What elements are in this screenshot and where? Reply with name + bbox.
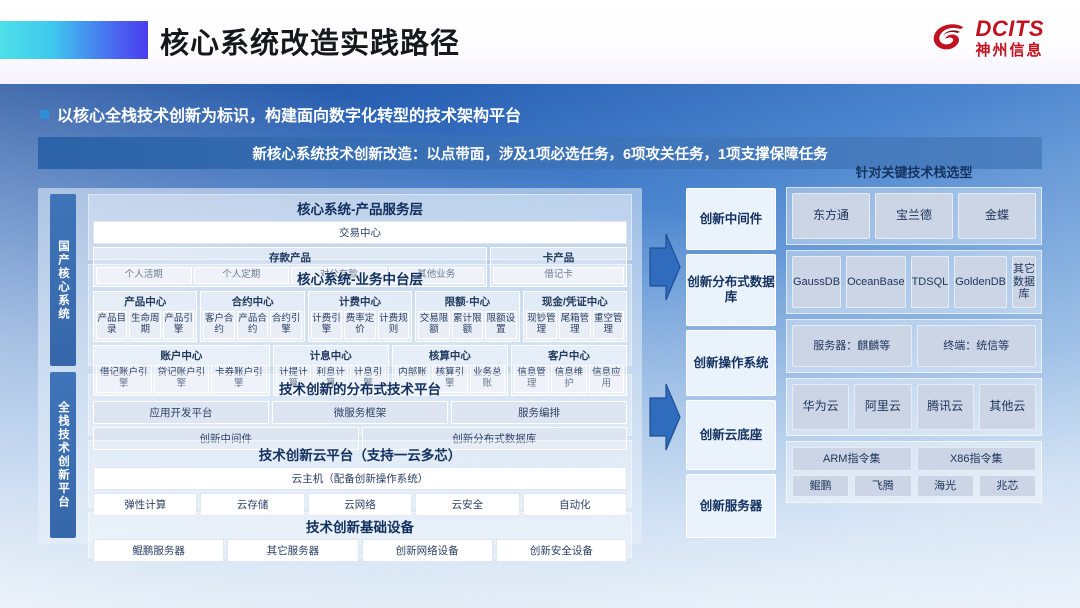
center-item: 合约引擎 <box>270 311 301 339</box>
infrastructure-layer: 技术创新基础设备 鲲鹏服务器 其它服务器 创新网络设备 创新安全设备 <box>88 512 632 558</box>
center-cash-voucher: 现金/凭证中心 现钞管理 尾箱管理 重空管理 <box>523 291 627 342</box>
center-item: 计费引擎 <box>311 311 342 339</box>
stack-row-isa: ARM指令集 X86指令集 <box>792 447 1036 471</box>
stack-band-chips: ARM指令集 X86指令集 鲲鹏 飞腾 海光 兆芯 <box>786 441 1042 503</box>
page-header: 核心系统改造实践路径 DCITS 神州信息 <box>0 0 1080 84</box>
dcits-logo: DCITS 神州信息 <box>929 18 1045 58</box>
stack-row-os: 服务器：麒麟等 终端：统信等 <box>792 325 1036 367</box>
product-layer-title: 核心系统-产品服务层 <box>89 195 631 221</box>
center-title: 产品中心 <box>96 294 194 311</box>
tech-platform-item: 服务编排 <box>451 401 627 424</box>
center-title: 合约中心 <box>203 294 301 311</box>
stack-item-chip[interactable]: 鲲鹏 <box>792 475 849 497</box>
stack-row-database: GaussDB OceanBase TDSQL GoldenDB 其它数据库 <box>792 256 1036 308</box>
center-title: 限额·中心 <box>418 294 516 311</box>
stack-item-database[interactable]: GoldenDB <box>954 256 1007 308</box>
stack-item-chip[interactable]: 兆芯 <box>979 475 1036 497</box>
stack-row-chips: 鲲鹏 飞腾 海光 兆芯 <box>792 475 1036 497</box>
task-server[interactable]: 创新服务器 <box>686 474 776 538</box>
trade-center-strip: 交易中心 <box>93 221 627 244</box>
stack-band-middleware: 东方通 宝兰德 金蝶 <box>786 187 1042 245</box>
arrow-right-icon-bottom <box>648 380 682 454</box>
stack-item-chip[interactable]: 海光 <box>917 475 974 497</box>
task-operating-system[interactable]: 创新操作系统 <box>686 330 776 396</box>
tech-platform-item: 应用开发平台 <box>93 401 269 424</box>
stack-band-cloud: 华为云 阿里云 腾讯云 其他云 <box>786 378 1042 436</box>
distributed-tech-platform: 技术创新的分布式技术平台 应用开发平台 微服务框架 服务编排 创新中间件 创新分… <box>88 374 632 436</box>
center-item: 费率定价 <box>344 311 375 339</box>
left-architecture-panel: 国产核心系统 全栈技术创新平台 核心系统-产品服务层 交易中心 存款产品 个人活… <box>38 188 642 544</box>
stack-item-isa[interactable]: ARM指令集 <box>792 447 912 471</box>
center-item: 交易限额 <box>418 311 449 339</box>
dcits-swirl-icon <box>929 18 969 58</box>
center-limit: 限额·中心 交易限额 累计限额 限额设置 <box>415 291 519 342</box>
infra-items-row: 鲲鹏服务器 其它服务器 创新网络设备 创新安全设备 <box>89 539 631 565</box>
center-item: 重空管理 <box>593 311 624 339</box>
stack-item-middleware[interactable]: 金蝶 <box>958 193 1036 239</box>
slide-content: 以核心全栈技术创新为标识，构建面向数字化转型的技术架构平台 新核心系统技术创新改… <box>0 84 1080 608</box>
center-cells: 交易限额 累计限额 限额设置 <box>418 311 516 339</box>
center-item: 尾箱管理 <box>559 311 590 339</box>
tech-stack-title: 针对关键技术栈选型 <box>786 162 1042 181</box>
stack-item-database[interactable]: TDSQL <box>911 256 950 308</box>
center-cells: 计费引擎 费率定价 计费规则 <box>311 311 409 339</box>
task-cloud-foundation[interactable]: 创新云底座 <box>686 400 776 470</box>
task-distributed-database[interactable]: 创新分布式数据库 <box>686 254 776 326</box>
center-contract: 合约中心 客户合约 产品合约 合约引擎 <box>200 291 304 342</box>
stack-item-cloud[interactable]: 华为云 <box>792 384 849 430</box>
header-accent-bar <box>0 21 148 59</box>
bullet-square-icon <box>40 110 49 119</box>
stack-row-middleware: 东方通 宝兰德 金蝶 <box>792 193 1036 239</box>
infra-item: 创新安全设备 <box>496 539 627 562</box>
side-tab-tech-platform: 全栈技术创新平台 <box>50 372 76 538</box>
center-item: 累计限额 <box>452 311 483 339</box>
cloud-platform-title: 技术创新云平台（支持一云多芯） <box>89 441 631 467</box>
logo-text-cn: 神州信息 <box>976 43 1044 58</box>
cloud-platform: 技术创新云平台（支持一云多芯） 云主机（配备创新操作系统） 弹性计算 云存储 云… <box>88 440 632 508</box>
center-item: 产品合约 <box>237 311 268 339</box>
cloud-host-strip: 云主机（配备创新操作系统） <box>93 467 627 490</box>
center-item: 产品引擎 <box>163 311 194 339</box>
stack-item-cloud[interactable]: 腾讯云 <box>917 384 974 430</box>
business-layer-title: 核心系统-业务中台层 <box>89 265 631 291</box>
center-item: 客户合约 <box>203 311 234 339</box>
center-item: 产品目录 <box>96 311 127 339</box>
infra-item: 创新网络设备 <box>362 539 493 562</box>
center-title: 核算中心 <box>395 348 505 365</box>
stack-item-middleware[interactable]: 宝兰德 <box>875 193 953 239</box>
center-cells: 现钞管理 尾箱管理 重空管理 <box>526 311 624 339</box>
tech-platform-row-1: 应用开发平台 微服务框架 服务编排 <box>89 401 631 427</box>
business-center-row-1: 产品中心 产品目录 生命周期 产品引擎 合约中心 客户合约 产品合约 合约引擎 <box>89 291 631 345</box>
center-title: 计息中心 <box>276 348 386 365</box>
logo-text-en: DCITS <box>976 18 1045 40</box>
stack-item-database[interactable]: 其它数据库 <box>1012 256 1036 308</box>
stack-item-cloud[interactable]: 其他云 <box>979 384 1036 430</box>
center-product: 产品中心 产品目录 生命周期 产品引擎 <box>93 291 197 342</box>
center-item: 生命周期 <box>129 311 160 339</box>
stack-band-os: 服务器：麒麟等 终端：统信等 <box>786 319 1042 373</box>
section-heading: 以核心全栈技术创新为标识，构建面向数字化转型的技术架构平台 <box>40 102 521 126</box>
business-middle-layer: 核心系统-业务中台层 产品中心 产品目录 生命周期 产品引擎 合约中心 客户合 <box>88 264 632 366</box>
architecture-diagram: 国产核心系统 全栈技术创新平台 核心系统-产品服务层 交易中心 存款产品 个人活… <box>0 180 1080 560</box>
center-title: 客户中心 <box>514 348 624 365</box>
stack-item-database[interactable]: OceanBase <box>846 256 905 308</box>
tech-platform-item: 微服务框架 <box>272 401 448 424</box>
center-item: 限额设置 <box>485 311 516 339</box>
product-service-layer: 核心系统-产品服务层 交易中心 存款产品 个人活期 个人定期 对公存款 其他业务… <box>88 194 632 260</box>
tech-stack-column: 针对关键技术栈选型 东方通 宝兰德 金蝶 GaussDB OceanBase T… <box>786 162 1042 508</box>
center-title: 计费中心 <box>311 294 409 311</box>
stack-item-os[interactable]: 终端：统信等 <box>917 325 1037 367</box>
stack-band-database: GaussDB OceanBase TDSQL GoldenDB 其它数据库 <box>786 250 1042 314</box>
task-column: 创新中间件 创新分布式数据库 创新操作系统 创新云底座 创新服务器 <box>686 188 776 542</box>
center-cells: 客户合约 产品合约 合约引擎 <box>203 311 301 339</box>
center-item: 现钞管理 <box>526 311 557 339</box>
infra-item: 鲲鹏服务器 <box>93 539 224 562</box>
side-tab-core-system: 国产核心系统 <box>50 194 76 366</box>
stack-row-cloud: 华为云 阿里云 腾讯云 其他云 <box>792 384 1036 430</box>
center-cells: 产品目录 生命周期 产品引擎 <box>96 311 194 339</box>
stack-item-database[interactable]: GaussDB <box>792 256 841 308</box>
stack-item-isa[interactable]: X86指令集 <box>917 447 1037 471</box>
section-heading-text: 以核心全栈技术创新为标识，构建面向数字化转型的技术架构平台 <box>57 102 521 126</box>
center-billing: 计费中心 计费引擎 费率定价 计费规则 <box>308 291 412 342</box>
stack-item-middleware[interactable]: 东方通 <box>792 193 870 239</box>
center-item: 计费规则 <box>378 311 409 339</box>
stack-item-os[interactable]: 服务器：麒麟等 <box>792 325 912 367</box>
stack-item-cloud[interactable]: 阿里云 <box>854 384 911 430</box>
infra-item: 其它服务器 <box>227 539 358 562</box>
infra-title: 技术创新基础设备 <box>89 513 631 539</box>
center-title: 现金/凭证中心 <box>526 294 624 311</box>
task-middleware[interactable]: 创新中间件 <box>686 188 776 250</box>
arrow-right-icon-top <box>648 230 682 304</box>
tech-platform-title: 技术创新的分布式技术平台 <box>89 375 631 401</box>
center-title: 账户中心 <box>96 348 267 365</box>
stack-item-chip[interactable]: 飞腾 <box>854 475 911 497</box>
page-title: 核心系统改造实践路径 <box>160 20 460 62</box>
